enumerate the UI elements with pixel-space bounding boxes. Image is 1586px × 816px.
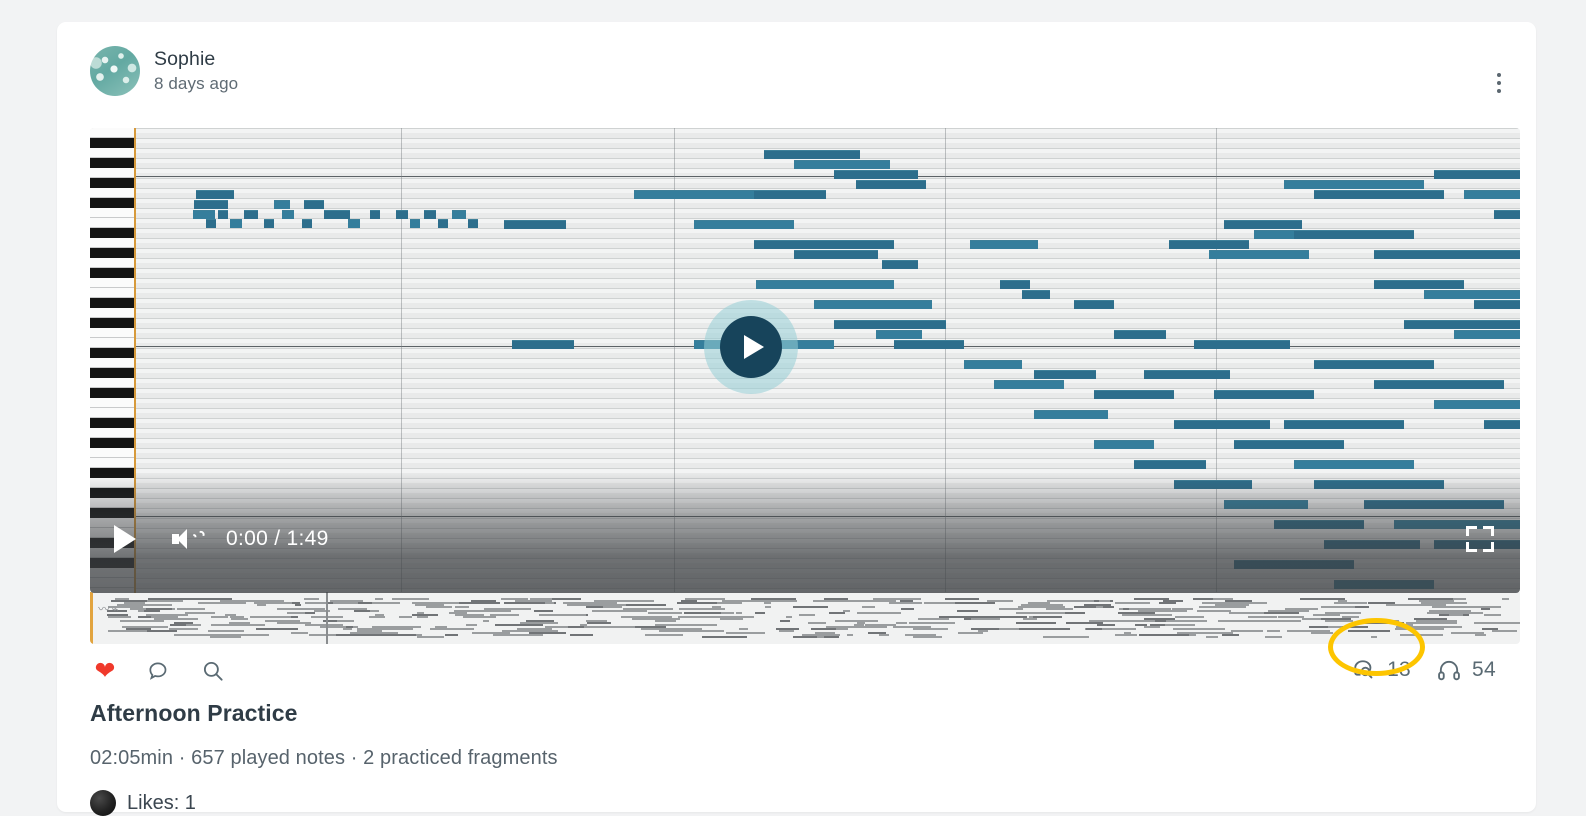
piano-white-key[interactable] bbox=[90, 288, 134, 298]
overview-note-mark bbox=[372, 602, 401, 604]
note-block bbox=[1284, 420, 1404, 429]
comment-search-icon bbox=[1350, 656, 1378, 684]
note-block bbox=[1314, 360, 1434, 369]
note-block bbox=[1434, 170, 1520, 179]
note-block bbox=[1464, 190, 1520, 199]
piano-white-key[interactable] bbox=[90, 168, 134, 178]
overview-note-mark bbox=[146, 608, 172, 610]
note-block bbox=[794, 250, 878, 259]
heart-icon[interactable]: ❤ bbox=[90, 656, 120, 686]
overview-note-mark bbox=[592, 610, 618, 612]
note-block bbox=[218, 210, 228, 219]
overview-note-mark bbox=[1348, 630, 1389, 632]
overview-note-mark bbox=[898, 602, 922, 604]
overview-note-mark bbox=[1451, 632, 1483, 634]
overview-note-mark bbox=[829, 612, 845, 614]
overview-note-mark bbox=[584, 626, 635, 628]
overview-note-mark bbox=[254, 602, 292, 604]
note-block bbox=[994, 380, 1064, 389]
piano-black-key[interactable] bbox=[90, 228, 134, 238]
overview-note-mark bbox=[1248, 616, 1278, 618]
overview-note-mark bbox=[1123, 608, 1129, 610]
likes-label: Likes: 1 bbox=[127, 792, 196, 815]
note-block bbox=[634, 190, 754, 199]
overview-note-mark bbox=[144, 610, 159, 612]
overview-note-mark bbox=[1118, 612, 1155, 614]
overview-note-mark bbox=[1396, 626, 1447, 628]
overview-note-mark bbox=[645, 634, 683, 636]
note-block bbox=[834, 320, 946, 329]
comment-search-stat[interactable]: 13 bbox=[1350, 656, 1411, 684]
overview-note-mark bbox=[1490, 622, 1520, 624]
overview-note-mark bbox=[1202, 602, 1250, 604]
overview-note-mark bbox=[490, 614, 519, 616]
piano-white-key[interactable] bbox=[90, 448, 134, 458]
overview-note-mark bbox=[1012, 608, 1023, 610]
comment-search-count: 13 bbox=[1387, 658, 1411, 682]
piano-black-key[interactable] bbox=[90, 178, 134, 188]
overview-note-mark bbox=[483, 620, 489, 622]
piano-white-key[interactable] bbox=[90, 378, 134, 388]
overview-note-mark bbox=[333, 602, 358, 604]
overview-note-mark bbox=[1453, 606, 1501, 608]
overview-note-mark bbox=[779, 630, 794, 632]
piano-white-key[interactable] bbox=[90, 238, 134, 248]
overview-note-mark bbox=[648, 612, 682, 614]
overview-note-mark bbox=[897, 598, 921, 600]
overview-note-mark bbox=[780, 600, 792, 602]
overview-note-mark bbox=[721, 612, 734, 614]
overview-note-mark bbox=[545, 602, 554, 604]
post-card: Sophie 8 days ago bbox=[57, 22, 1536, 812]
note-block bbox=[1314, 480, 1444, 489]
overview-note-mark bbox=[277, 622, 311, 624]
note-block bbox=[438, 219, 448, 228]
overview-note-mark bbox=[1097, 624, 1114, 626]
piano-white-key[interactable] bbox=[90, 578, 134, 588]
likes-row: Likes: 1 bbox=[90, 790, 196, 816]
overview-note-mark bbox=[415, 604, 444, 606]
overview-note-mark bbox=[143, 600, 183, 602]
note-block bbox=[834, 170, 918, 179]
piano-white-key[interactable] bbox=[90, 338, 134, 348]
note-block bbox=[424, 210, 436, 219]
note-block bbox=[1234, 560, 1354, 569]
overview-note-mark bbox=[602, 606, 622, 608]
overview-note-mark bbox=[1165, 624, 1195, 626]
overview-note-mark bbox=[1099, 600, 1110, 602]
overview-note-mark bbox=[913, 636, 942, 638]
overview-note-mark bbox=[1016, 612, 1065, 614]
overview-note-mark bbox=[1229, 612, 1264, 614]
overview-note-mark bbox=[210, 636, 242, 638]
overview-note-mark bbox=[1016, 622, 1056, 624]
piano-black-key[interactable] bbox=[90, 348, 134, 358]
overview-note-mark bbox=[1074, 606, 1113, 608]
overview-note-mark bbox=[1213, 628, 1226, 630]
piano-black-key[interactable] bbox=[90, 388, 134, 398]
overview-note-mark bbox=[817, 636, 824, 638]
note-block bbox=[1374, 380, 1504, 389]
fullscreen-icon[interactable] bbox=[1466, 526, 1494, 552]
note-block bbox=[452, 210, 466, 219]
overview-note-mark bbox=[471, 600, 496, 602]
note-block bbox=[348, 219, 360, 228]
piano-white-key[interactable] bbox=[90, 188, 134, 198]
overview-note-mark bbox=[776, 628, 799, 630]
fs-corner-bl bbox=[1466, 542, 1477, 552]
overview-note-mark bbox=[939, 616, 982, 618]
piano-black-key[interactable] bbox=[90, 318, 134, 328]
piano-black-key[interactable] bbox=[90, 488, 134, 498]
overview-note-mark bbox=[211, 624, 262, 626]
overview-note-mark bbox=[1175, 616, 1205, 618]
overview-note-mark bbox=[1115, 634, 1137, 636]
magnifier-icon[interactable] bbox=[198, 656, 228, 686]
overview-note-mark bbox=[380, 634, 421, 636]
overview-note-mark bbox=[1134, 598, 1169, 600]
overview-note-mark bbox=[786, 616, 792, 618]
overview-note-mark bbox=[1115, 602, 1150, 604]
overview-note-mark bbox=[811, 628, 836, 630]
overview-note-mark bbox=[720, 618, 743, 620]
overview-note-mark bbox=[208, 630, 215, 632]
piano-white-key[interactable] bbox=[90, 358, 134, 368]
overview-note-mark bbox=[1278, 616, 1304, 618]
overview-note-mark bbox=[1475, 634, 1486, 636]
overview-note-mark bbox=[170, 624, 186, 626]
overview-note-mark bbox=[466, 624, 477, 626]
overview-note-mark bbox=[1268, 610, 1309, 612]
piano-black-key[interactable] bbox=[90, 268, 134, 278]
overview-note-mark bbox=[971, 618, 999, 620]
play-triangle-icon bbox=[744, 335, 764, 359]
piano-white-key[interactable] bbox=[90, 208, 134, 218]
headphones-icon bbox=[1435, 656, 1463, 684]
overview-minimap[interactable]: 〰︎ ⌁ bbox=[90, 592, 1520, 644]
overview-note-mark bbox=[495, 624, 543, 626]
overview-note-mark bbox=[416, 634, 422, 636]
overview-note-mark bbox=[1028, 602, 1050, 604]
overview-note-mark bbox=[702, 636, 735, 638]
overview-note-mark bbox=[1096, 606, 1104, 608]
overview-note-mark bbox=[957, 610, 978, 612]
overview-note-mark bbox=[847, 634, 853, 636]
overview-note-mark bbox=[1400, 634, 1443, 636]
piano-black-key[interactable] bbox=[90, 418, 134, 428]
note-block bbox=[193, 210, 215, 219]
overview-note-mark bbox=[857, 622, 865, 624]
note-block bbox=[1294, 460, 1414, 469]
piano-white-key[interactable] bbox=[90, 218, 134, 228]
piano-white-key[interactable] bbox=[90, 128, 134, 138]
note-block bbox=[1000, 280, 1030, 289]
overview-note-mark bbox=[192, 598, 232, 600]
note-block bbox=[1374, 280, 1464, 289]
overview-note-mark bbox=[1231, 630, 1263, 632]
note-block bbox=[196, 190, 234, 199]
play-icon[interactable] bbox=[114, 525, 136, 553]
overview-note-mark bbox=[399, 616, 412, 618]
overview-note-mark bbox=[1199, 606, 1246, 608]
piano-black-key[interactable] bbox=[90, 468, 134, 478]
overview-note-mark bbox=[978, 630, 988, 632]
piano-white-key[interactable] bbox=[90, 148, 134, 158]
overview-note-mark bbox=[1247, 602, 1267, 604]
overview-note-mark bbox=[793, 636, 839, 638]
piano-black-key[interactable] bbox=[90, 438, 134, 448]
overview-note-mark bbox=[526, 620, 555, 622]
overview-note-mark bbox=[539, 614, 586, 616]
overview-note-mark bbox=[120, 620, 163, 622]
avatar[interactable] bbox=[90, 46, 140, 96]
overview-note-mark bbox=[186, 624, 201, 626]
overview-note-mark bbox=[1481, 608, 1490, 610]
overview-note-mark bbox=[243, 600, 285, 602]
overview-note-mark bbox=[211, 616, 228, 618]
fs-corner-tr bbox=[1483, 526, 1494, 536]
note-block bbox=[1224, 500, 1308, 509]
volume-icon[interactable] bbox=[172, 527, 200, 551]
overview-note-mark bbox=[147, 630, 178, 632]
post-header: Sophie 8 days ago bbox=[90, 46, 238, 96]
overview-note-mark bbox=[1019, 628, 1070, 630]
note-block bbox=[468, 219, 478, 228]
piano-white-key[interactable] bbox=[90, 258, 134, 268]
note-block bbox=[1174, 480, 1252, 489]
overview-note-mark bbox=[945, 598, 979, 600]
overview-note-mark bbox=[1355, 606, 1369, 608]
piano-black-key[interactable] bbox=[90, 138, 134, 148]
overview-note-mark bbox=[808, 622, 825, 624]
overview-note-mark bbox=[1321, 618, 1351, 620]
listens-count: 54 bbox=[1472, 658, 1496, 682]
piano-black-key[interactable] bbox=[90, 198, 134, 208]
post-metadata: 02:05min · 657 played notes · 2 practice… bbox=[90, 747, 558, 770]
note-block bbox=[1314, 190, 1444, 199]
liker-avatar[interactable] bbox=[90, 790, 116, 816]
piano-white-key[interactable] bbox=[90, 408, 134, 418]
overview-note-mark bbox=[1325, 620, 1353, 622]
piano-black-key[interactable] bbox=[90, 558, 134, 568]
overview-note-mark bbox=[739, 628, 748, 630]
overview-note-mark bbox=[305, 602, 326, 604]
piano-white-key[interactable] bbox=[90, 328, 134, 338]
overview-note-mark bbox=[449, 612, 467, 614]
overview-note-mark bbox=[430, 628, 452, 630]
overview-note-mark bbox=[1172, 608, 1194, 610]
note-block bbox=[1434, 400, 1520, 409]
overview-note-mark bbox=[955, 602, 996, 604]
overview-note-mark bbox=[1414, 618, 1447, 620]
action-row: ❤ bbox=[90, 656, 228, 686]
overview-playhead[interactable] bbox=[90, 592, 93, 644]
piano-white-key[interactable] bbox=[90, 568, 134, 578]
overview-note-mark bbox=[426, 606, 452, 608]
overview-note-mark bbox=[958, 632, 984, 634]
note-block bbox=[856, 180, 926, 189]
overview-note-mark bbox=[1033, 616, 1063, 618]
note-block bbox=[302, 219, 312, 228]
overview-note-mark bbox=[177, 608, 205, 610]
overview-note-mark bbox=[677, 602, 716, 604]
note-block bbox=[1214, 390, 1314, 399]
post-header-text: Sophie 8 days ago bbox=[154, 48, 238, 94]
piano-white-key[interactable] bbox=[90, 498, 134, 508]
note-block bbox=[1494, 210, 1520, 219]
piano-black-key[interactable] bbox=[90, 368, 134, 378]
overview-note-mark bbox=[336, 634, 387, 636]
note-block bbox=[512, 340, 574, 349]
piano-roll-player[interactable]: 0:00 / 1:49 bbox=[90, 128, 1520, 593]
overview-note-mark bbox=[305, 624, 344, 626]
listens-stat[interactable]: 54 bbox=[1435, 656, 1496, 684]
overview-note-mark bbox=[589, 604, 626, 606]
overview-note-mark bbox=[148, 598, 197, 600]
overview-note-mark bbox=[1222, 634, 1239, 636]
note-block bbox=[304, 200, 324, 209]
piano-white-key[interactable] bbox=[90, 458, 134, 468]
note-block bbox=[876, 330, 922, 339]
note-block bbox=[1224, 220, 1302, 229]
overview-note-mark bbox=[231, 618, 248, 620]
overview-note-mark bbox=[642, 600, 655, 602]
overview-note-mark bbox=[815, 632, 835, 634]
overview-note-mark bbox=[1206, 636, 1217, 638]
overview-note-mark bbox=[764, 602, 770, 604]
overview-note-mark bbox=[793, 606, 828, 608]
overview-note-mark bbox=[1371, 636, 1377, 638]
overview-note-mark bbox=[1193, 598, 1213, 600]
overview-note-mark bbox=[587, 622, 611, 624]
overview-note-mark bbox=[1173, 628, 1201, 630]
overview-note-mark bbox=[736, 612, 743, 614]
overview-note-mark bbox=[1047, 600, 1094, 602]
overview-note-mark bbox=[1316, 614, 1340, 616]
overview-note-mark bbox=[1252, 620, 1301, 622]
note-block bbox=[1294, 230, 1414, 239]
note-block bbox=[1234, 440, 1344, 449]
piano-white-key[interactable] bbox=[90, 278, 134, 288]
overview-note-mark bbox=[459, 602, 501, 604]
overview-note-mark bbox=[1406, 622, 1456, 624]
overview-note-mark bbox=[1311, 632, 1333, 634]
note-block bbox=[264, 219, 274, 228]
overview-note-mark bbox=[174, 622, 193, 624]
piano-black-key[interactable] bbox=[90, 508, 134, 518]
overview-note-mark bbox=[1342, 626, 1369, 628]
note-block bbox=[1364, 500, 1504, 509]
piano-white-key[interactable] bbox=[90, 398, 134, 408]
overview-note-mark bbox=[151, 616, 178, 618]
note-block bbox=[1374, 250, 1520, 259]
overview-note-mark bbox=[1159, 602, 1176, 604]
overview-note-mark bbox=[277, 608, 307, 610]
note-block bbox=[1134, 460, 1206, 469]
note-block bbox=[274, 200, 290, 209]
overview-note-mark bbox=[755, 612, 765, 614]
overview-note-mark bbox=[1328, 606, 1341, 608]
author-name[interactable]: Sophie bbox=[154, 48, 238, 71]
waveform-icon: 〰︎ ⌁ bbox=[98, 600, 118, 617]
page-title: Afternoon Practice bbox=[90, 700, 298, 727]
overview-note-mark bbox=[799, 614, 815, 616]
note-block bbox=[1454, 330, 1520, 339]
piano-white-key[interactable] bbox=[90, 428, 134, 438]
note-block bbox=[1194, 340, 1290, 349]
overview-note-mark bbox=[369, 616, 385, 618]
overview-note-mark bbox=[460, 614, 474, 616]
overview-note-mark bbox=[734, 636, 747, 638]
fs-corner-br bbox=[1483, 542, 1494, 552]
overview-note-mark bbox=[1149, 634, 1187, 636]
overview-note-mark bbox=[1197, 610, 1230, 612]
overview-note-mark bbox=[862, 606, 875, 608]
note-block bbox=[504, 220, 566, 229]
note-block bbox=[894, 340, 964, 349]
overview-note-mark bbox=[1429, 610, 1470, 612]
note-block bbox=[964, 360, 1022, 369]
overview-note-mark bbox=[1356, 622, 1404, 624]
overview-note-mark bbox=[493, 634, 543, 636]
overview-note-mark bbox=[250, 616, 292, 618]
overview-note-mark bbox=[360, 632, 398, 634]
overview-note-mark bbox=[1368, 602, 1395, 604]
piano-black-key[interactable] bbox=[90, 158, 134, 168]
overview-note-mark bbox=[256, 628, 298, 630]
note-block bbox=[370, 210, 380, 219]
note-block bbox=[1424, 290, 1520, 299]
overview-note-mark bbox=[198, 602, 246, 604]
note-block bbox=[206, 219, 216, 228]
overview-note-mark bbox=[641, 628, 660, 630]
overview-note-mark bbox=[445, 634, 458, 636]
overview-note-mark bbox=[621, 616, 673, 618]
overview-note-mark bbox=[901, 608, 914, 610]
play-overlay-button[interactable] bbox=[704, 300, 798, 394]
note-block bbox=[764, 150, 860, 159]
overview-note-mark bbox=[1502, 598, 1509, 600]
overview-note-mark bbox=[1449, 614, 1463, 616]
overview-note-mark bbox=[291, 632, 308, 634]
overview-note-mark bbox=[918, 618, 949, 620]
overview-note-mark bbox=[913, 628, 948, 630]
comment-bubble-icon[interactable] bbox=[144, 656, 174, 686]
overview-note-mark bbox=[1419, 604, 1429, 606]
note-block bbox=[694, 220, 794, 229]
overview-note-mark bbox=[287, 612, 305, 614]
piano-black-key[interactable] bbox=[90, 248, 134, 258]
overview-note-mark bbox=[375, 598, 383, 600]
time-display: 0:00 / 1:49 bbox=[226, 527, 329, 551]
overview-note-mark bbox=[412, 602, 430, 604]
piano-white-key[interactable] bbox=[90, 478, 134, 488]
overview-note-mark bbox=[564, 598, 573, 600]
note-block bbox=[1034, 410, 1108, 419]
overview-note-mark bbox=[1416, 620, 1457, 622]
overview-note-mark bbox=[662, 630, 713, 632]
overview-note-mark bbox=[1144, 626, 1160, 628]
piano-black-key[interactable] bbox=[90, 298, 134, 308]
piano-white-key[interactable] bbox=[90, 308, 134, 318]
note-block bbox=[1174, 420, 1270, 429]
kebab-dot bbox=[1497, 73, 1501, 77]
kebab-menu-icon[interactable] bbox=[1488, 69, 1510, 97]
overview-note-mark bbox=[1046, 608, 1073, 610]
overview-note-mark bbox=[655, 620, 676, 622]
overview-note-mark bbox=[879, 634, 890, 636]
overview-note-mark bbox=[343, 628, 352, 630]
